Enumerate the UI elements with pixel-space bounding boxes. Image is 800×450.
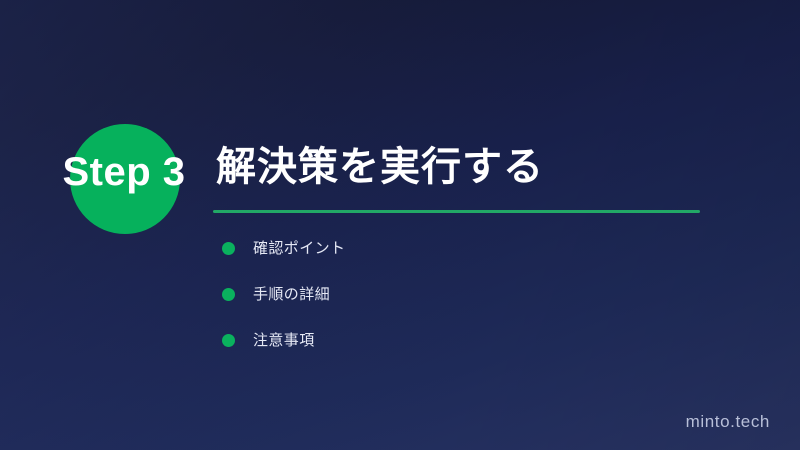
step-badge-label: Step 3 [44,152,204,192]
footer-brand-text: minto.tech [686,412,770,432]
bullet-label: 確認ポイント [253,241,345,256]
bullet-list: 確認ポイント 手順の詳細 注意事項 [222,236,345,352]
bullet-dot-icon [222,288,235,301]
list-item: 手順の詳細 [222,282,345,306]
list-item: 注意事項 [222,328,345,352]
bullet-label: 注意事項 [253,333,315,348]
bullet-label: 手順の詳細 [253,287,330,302]
list-item: 確認ポイント [222,236,345,260]
bullet-dot-icon [222,334,235,347]
slide-title: 解決策を実行する [216,145,544,190]
slide-canvas: Step 3 解決策を実行する 確認ポイント 手順の詳細 注意事項 minto.… [0,0,800,450]
title-underline-rule [213,210,700,213]
bullet-dot-icon [222,242,235,255]
